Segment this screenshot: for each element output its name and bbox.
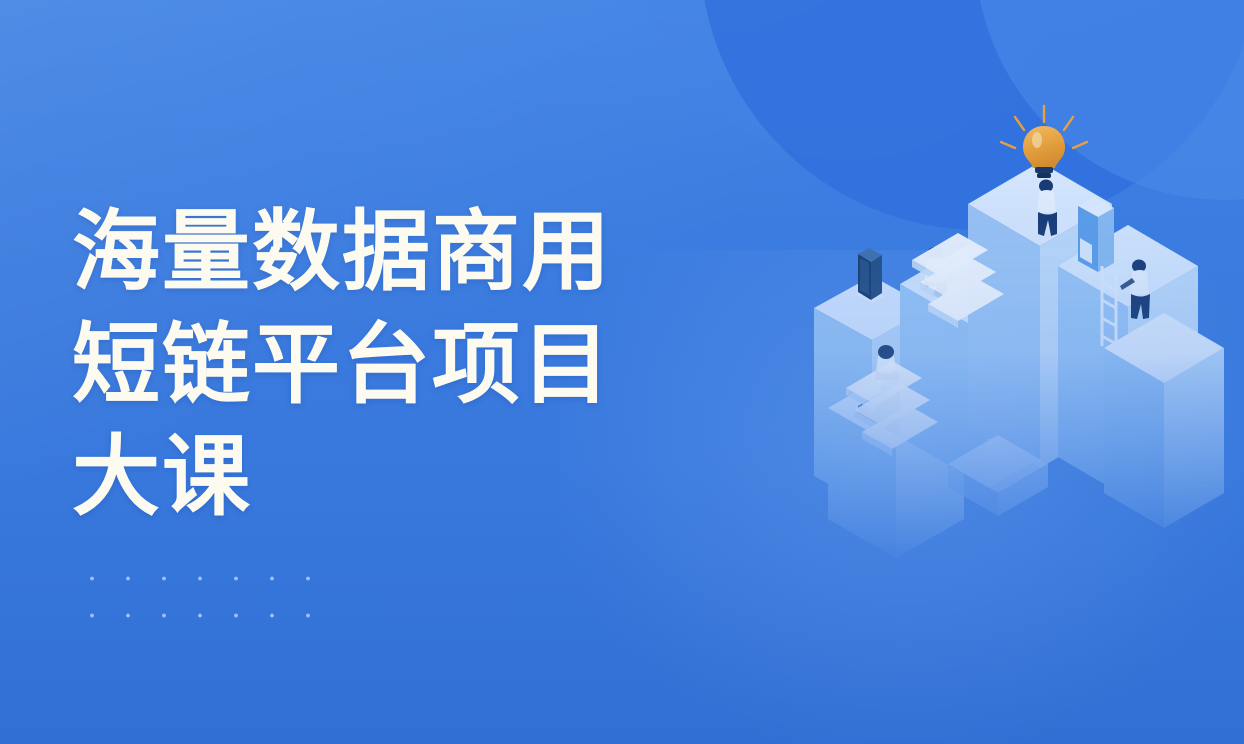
lightbulb-icon [1001, 106, 1087, 178]
tower-right-short [1104, 313, 1224, 528]
course-banner: 海量数据商用 短链平台项目 大课 [0, 0, 1244, 744]
book-icon-standing [1078, 197, 1114, 272]
headline-line-1: 海量数据商用 [72, 196, 732, 309]
headline-line-3: 大课 [72, 421, 732, 534]
book-icon-dark [856, 248, 884, 303]
isometric-growth-illustration [772, 88, 1232, 568]
headline-line-2: 短链平台项目 [72, 309, 732, 422]
dot-grid-pattern [74, 560, 328, 634]
headline-block: 海量数据商用 短链平台项目 大课 [72, 196, 732, 534]
